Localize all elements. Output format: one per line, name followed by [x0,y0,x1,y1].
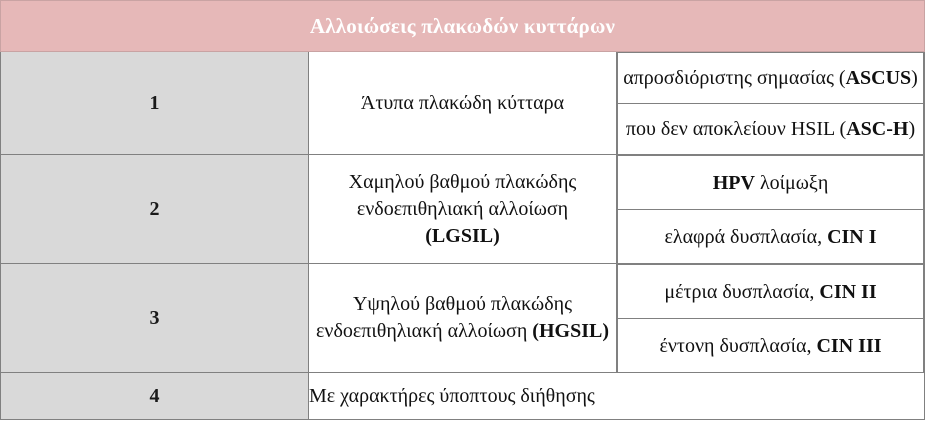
detail-text-1-2: που δεν αποκλείουν HSIL ( [626,118,846,140]
detail-cell-3-1: μέτρια δυσπλασία, CIN II [618,265,924,319]
detail-code-1-2: ASC-H [846,118,908,140]
row-category-3: Υψηλού βαθμού πλακώδης ενδοεπιθηλιακή αλ… [309,264,617,373]
table-row: 2 Χαμηλού βαθμού πλακώδης ενδοεπιθηλιακή… [1,155,925,264]
detail-cell-2-2: ελαφρά δυσπλασία, CIN I [618,210,924,264]
table-row: 4 Με χαρακτήρες ύποπτους διήθησης [1,373,925,420]
detail-tail-1-1: ) [911,67,918,89]
detail-row: μέτρια δυσπλασία, CIN II [618,265,924,319]
detail-code-3-1: CIN II [819,281,876,303]
detail-cell-2-1: HPV λοίμωξη [618,156,924,210]
detail-row: που δεν αποκλείουν HSIL (ASC-H) [618,104,924,155]
detail-row: έντονη δυσπλασία, CIN III [618,319,924,373]
row-category-1: Άτυπα πλακώδη κύτταρα [309,52,617,155]
detail-subtable-2: HPV λοίμωξη ελαφρά δυσπλασία, CIN I [617,155,924,263]
detail-row: απροσδιόριστης σημασίας (ASCUS) [618,53,924,104]
row-details-1: απροσδιόριστης σημασίας (ASCUS) που δεν … [617,52,925,155]
row-index-4: 4 [1,373,309,420]
detail-subtable-3: μέτρια δυσπλασία, CIN II έντονη δυσπλασί… [617,264,924,372]
row-category-2: Χαμηλού βαθμού πλακώδης ενδοεπιθηλιακή α… [309,155,617,264]
table-row: 3 Υψηλού βαθμού πλακώδης ενδοεπιθηλιακή … [1,264,925,373]
detail-code-2-2: CIN I [827,226,876,248]
detail-tail-1-2: ) [908,118,915,140]
row-index-3: 3 [1,264,309,373]
detail-row: ελαφρά δυσπλασία, CIN I [618,210,924,264]
detail-text-1-1: απροσδιόριστης σημασίας ( [623,67,845,89]
detail-cell-3-2: έντονη δυσπλασία, CIN III [618,319,924,373]
detail-text-3-2: έντονη δυσπλασία, [659,335,816,357]
row-category-code-3: (HGSIL) [532,320,609,342]
row-category-4: Με χαρακτήρες ύποπτους διήθησης [309,373,925,420]
row-details-3: μέτρια δυσπλασία, CIN II έντονη δυσπλασί… [617,264,925,373]
detail-cell-1-2: που δεν αποκλείουν HSIL (ASC-H) [618,104,924,155]
row-details-2: HPV λοίμωξη ελαφρά δυσπλασία, CIN I [617,155,925,264]
squamous-lesions-table: Αλλοιώσεις πλακωδών κυττάρων 1 Άτυπα πλα… [0,0,925,420]
row-category-text-2: Χαμηλού βαθμού πλακώδης ενδοεπιθηλιακή α… [349,171,577,220]
detail-code-2-1: HPV [713,172,755,194]
detail-cell-1-1: απροσδιόριστης σημασίας (ASCUS) [618,53,924,104]
detail-code-1-1: ASCUS [846,67,912,89]
row-category-text-1: Άτυπα πλακώδη κύτταρα [361,92,564,114]
row-category-code-2: (LGSIL) [425,225,499,247]
detail-code-3-2: CIN III [816,335,881,357]
detail-text-2-2: ελαφρά δυσπλασία, [664,226,827,248]
row-index-2: 2 [1,155,309,264]
table-container: Αλλοιώσεις πλακωδών κυττάρων 1 Άτυπα πλα… [0,0,925,420]
detail-subtable-1: απροσδιόριστης σημασίας (ASCUS) που δεν … [617,52,924,154]
table-title: Αλλοιώσεις πλακωδών κυττάρων [1,1,925,52]
detail-tail-2-1: λοίμωξη [755,172,828,194]
table-title-row: Αλλοιώσεις πλακωδών κυττάρων [1,1,925,52]
detail-row: HPV λοίμωξη [618,156,924,210]
detail-text-3-1: μέτρια δυσπλασία, [664,281,819,303]
table-row: 1 Άτυπα πλακώδη κύτταρα απροσδιόριστης σ… [1,52,925,155]
row-index-1: 1 [1,52,309,155]
